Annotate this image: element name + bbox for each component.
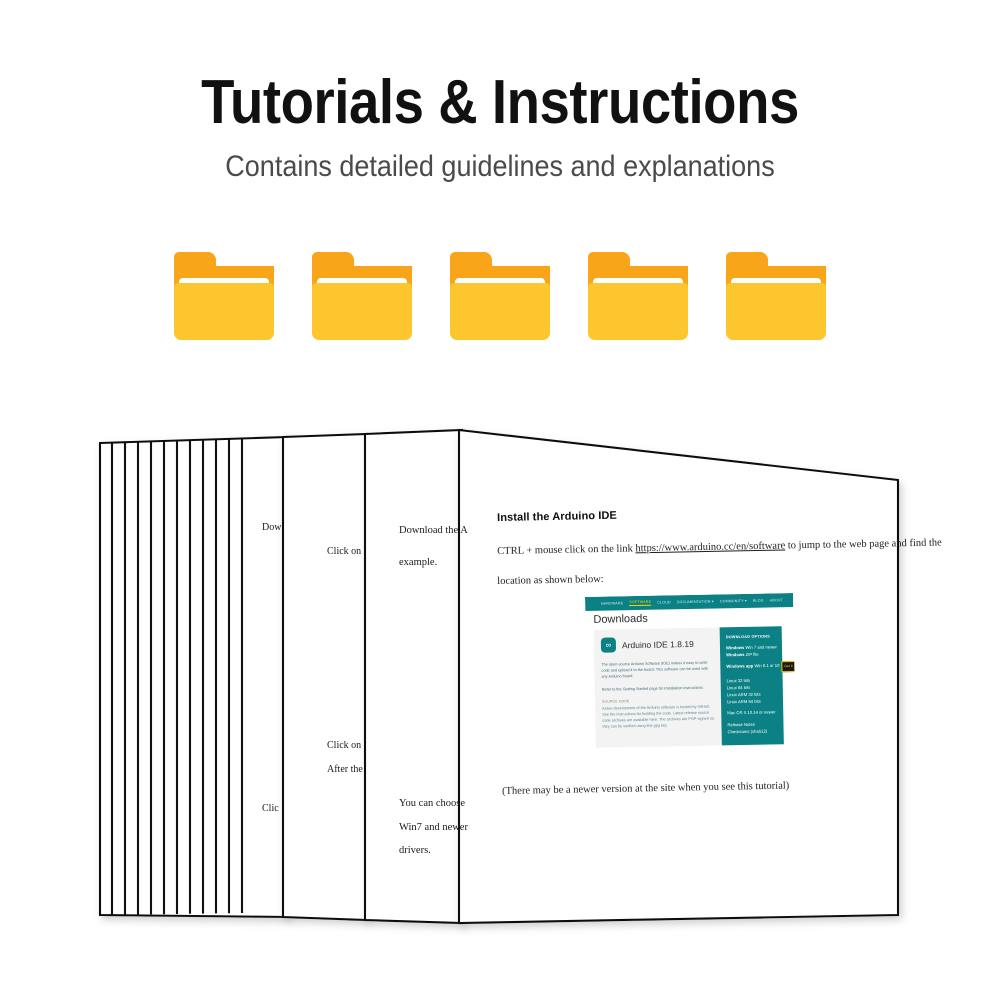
header: Tutorials & Instructions Contains detail… (0, 0, 1000, 182)
folder-row (0, 252, 1000, 340)
folder-icon[interactable] (174, 252, 274, 340)
arduino-download-card: ∞ Arduino IDE 1.8.19 The open-source Ard… (594, 626, 784, 748)
arduino-paragraph-3: Active development of the Arduino softwa… (602, 704, 715, 730)
folder-icon[interactable] (450, 252, 550, 340)
arduino-ide-version: Arduino IDE 1.8.19 (622, 638, 694, 649)
folder-icon[interactable] (588, 252, 688, 340)
front-page-body-line-1: CTRL + mouse click on the link https://w… (497, 532, 877, 565)
folder-front (174, 283, 274, 340)
dl-rest: ZIP file (744, 652, 758, 657)
dl-bold: Windows (726, 652, 744, 657)
folder-icon[interactable] (726, 252, 826, 340)
link-checksums[interactable]: Checksums (sha512) (728, 727, 779, 735)
nav-item-blog[interactable]: BLOG (753, 599, 764, 603)
folder-tab (588, 252, 630, 272)
front-page-body-line-2: location as shown below: (497, 562, 877, 595)
folder-front (588, 283, 688, 340)
arduino-paragraph-2: Refer to the Getting Started page for In… (602, 685, 715, 693)
document-page-2 (365, 430, 462, 923)
download-group: Mac OS X 10.14 or newer (727, 709, 778, 717)
front-page-heading: Install the Arduino IDE (497, 505, 877, 524)
arduino-download-options: DOWNLOAD OPTIONS Windows Win 7 and newer… (720, 626, 784, 745)
nav-item-community[interactable]: COMMUNITY ▾ (720, 599, 747, 604)
page-3-fragment: Click on (327, 546, 361, 557)
nav-item-documentation[interactable]: DOCUMENTATION ▾ (677, 600, 714, 605)
page-4-fragment: Clic (262, 803, 279, 814)
nav-item-hardware[interactable]: HARDWARE (601, 601, 624, 605)
front-page-note: (There may be a newer version at the sit… (502, 780, 789, 797)
document-page-3 (283, 434, 367, 920)
get-it-badge[interactable]: Get it (781, 661, 795, 671)
dl-rest: Win 7 and newer (744, 644, 777, 650)
download-link-macosx[interactable]: Mac OS X 10.14 or newer (727, 709, 778, 717)
folder-tab (174, 252, 216, 272)
download-link-windows-app[interactable]: Windows app Win 8.1 or 10Get it (726, 662, 777, 673)
download-group: Windows Win 7 and newer Windows ZIP file (726, 643, 777, 658)
page-3-fragment: Click on (327, 740, 361, 751)
page-title: Tutorials & Instructions (60, 0, 940, 134)
page-2-fragment: You can choose (399, 798, 465, 809)
folder-front (450, 283, 550, 340)
folder-tab (312, 252, 354, 272)
page-2-fragment: drivers. (399, 845, 431, 856)
download-group: Release Notes Checksums (sha512) (727, 720, 778, 735)
document-page-4 (100, 437, 288, 917)
folder-front (312, 283, 412, 340)
download-link-windows-zip[interactable]: Windows ZIP file (726, 651, 777, 659)
folder-tab (726, 252, 768, 272)
dl-bold: Windows app (726, 664, 753, 670)
arduino-infinity-logo-icon: ∞ (601, 637, 616, 652)
nav-item-software[interactable]: SOFTWARE (629, 600, 651, 606)
arduino-downloads-screenshot: HARDWARE SOFTWARE CLOUD DOCUMENTATION ▾ … (585, 593, 796, 754)
download-link-linux-arm-64[interactable]: Linux ARM 64 bits (727, 698, 778, 706)
arduino-paragraph-1: The open-source Arduino Software (IDE) m… (601, 660, 714, 680)
download-group: Linux 32 bits Linux 64 bits Linux ARM 32… (727, 676, 779, 706)
folder-front (726, 283, 826, 340)
page-subtitle: Contains detailed guidelines and explana… (50, 134, 950, 182)
page-3-fragment: After the (327, 764, 363, 775)
nav-item-about[interactable]: ABOUT (770, 598, 783, 602)
arduino-source-code-label: SOURCE CODE (602, 698, 715, 704)
arduino-software-link[interactable]: https://www.arduino.cc/en/software (635, 540, 785, 554)
page-2-fragment: example. (399, 557, 437, 568)
body-text-pre: CTRL + mouse click on the link (497, 543, 635, 557)
nav-item-cloud[interactable]: CLOUD (657, 600, 671, 604)
page-4-fragment: Dow (262, 522, 281, 533)
arduino-ide-row: ∞ Arduino IDE 1.8.19 (601, 636, 714, 653)
folder-tab (450, 252, 492, 272)
page-2-fragment: Download the A (399, 525, 468, 536)
page-2-fragment: Win7 and newer (399, 822, 468, 833)
download-options-heading: DOWNLOAD OPTIONS (726, 634, 777, 639)
document-thin-sheets (112, 439, 242, 915)
front-page-content: Install the Arduino IDE CTRL + mouse cli… (497, 512, 877, 595)
arduino-card-main: ∞ Arduino IDE 1.8.19 The open-source Ard… (594, 627, 722, 747)
body-text-post: to jump to the web page and find the (785, 537, 942, 551)
dl-rest: Win 8.1 or 10 (753, 663, 779, 668)
folder-icon[interactable] (312, 252, 412, 340)
dl-bold: Windows (726, 645, 744, 650)
download-group: Windows app Win 8.1 or 10Get it (726, 662, 777, 673)
